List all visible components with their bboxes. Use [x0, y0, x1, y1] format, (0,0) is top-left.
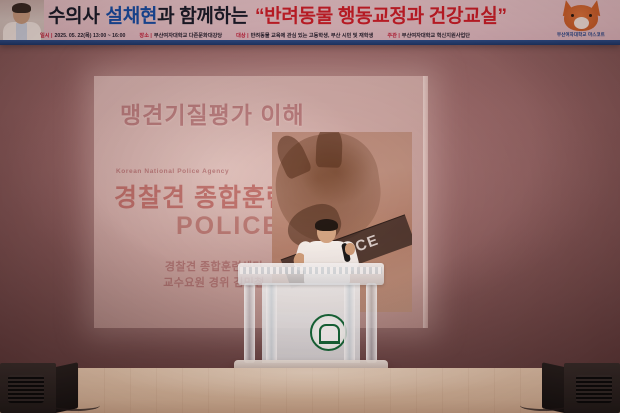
- podium-column: [344, 283, 355, 363]
- info-value: 2025. 05. 22(목) 13:00 ~ 16:00: [54, 32, 125, 39]
- stage-floor: [0, 368, 620, 413]
- banner-info-datetime: 일시 | 2025. 05. 22(목) 13:00 ~ 16:00: [40, 32, 125, 39]
- speaker-hair: [315, 219, 338, 231]
- info-key: 장소 |: [139, 32, 151, 39]
- banner-bottom-rail: [0, 40, 620, 45]
- info-key: 주관 |: [387, 32, 399, 39]
- banner-title: 수의사 설채현 과 함께하는 “반려동물 행동교정과 건강교실”: [48, 1, 507, 27]
- banner-info-audience: 대상 | 반려동물 교육에 관심 있는 고등학생, 부산 시민 및 재학생: [236, 32, 373, 39]
- fox-eye-left: [571, 14, 574, 17]
- portrait-hair: [12, 3, 31, 13]
- banner-title-plain-1: 수의사: [48, 1, 100, 28]
- event-banner: 수의사 설채현 과 함께하는 “반려동물 행동교정과 건강교실” 일시 | 20…: [0, 0, 620, 45]
- fox-mascot-caption: 부산여자대학교 마스코트: [550, 32, 612, 38]
- speaker-portrait-photo: [0, 0, 44, 45]
- monitor-grille: [576, 375, 612, 403]
- podium-top-edge: [240, 267, 382, 274]
- fox-eye-right: [589, 14, 592, 17]
- info-value: 부산여자대학교 혁신지원사업단: [402, 32, 470, 39]
- podium-column: [266, 283, 277, 363]
- podium-column: [244, 283, 255, 363]
- monitor-front-panel: [564, 363, 620, 413]
- info-key: 대상 |: [236, 32, 248, 39]
- banner-title-speaker-name: 설채현: [106, 1, 158, 28]
- info-value: 반려동물 교육에 관심 있는 고등학생, 부산 시민 및 재학생: [251, 32, 374, 39]
- info-key: 일시 |: [40, 32, 52, 39]
- banner-title-plain-2: 과 함께하는: [157, 1, 248, 28]
- university-emblem-icon: [310, 314, 347, 351]
- stage-photograph: 맹견기질평가 이해 Korean National Police Agency …: [0, 0, 620, 413]
- podium-column: [366, 283, 377, 363]
- fox-snout: [574, 17, 589, 29]
- monitor-cable-left: [52, 400, 100, 411]
- acrylic-podium: [238, 263, 384, 375]
- monitor-front-panel: [0, 363, 56, 413]
- podium-top: [238, 263, 384, 285]
- banner-info-venue: 장소 | 부산여자대학교 다존문화대강당: [139, 32, 222, 39]
- monitor-cable-right: [520, 400, 568, 411]
- monitor-grille: [8, 375, 44, 403]
- fox-mascot-icon: 부산여자대학교 마스코트: [548, 1, 614, 43]
- banner-title-quoted: “반려동물 행동교정과 건강교실”: [255, 1, 507, 28]
- banner-info-organizer: 주관 | 부산여자대학교 혁신지원사업단: [387, 32, 470, 39]
- speaker-mic-hand: [345, 243, 355, 255]
- info-value: 부산여자대학교 다존문화대강당: [154, 32, 222, 39]
